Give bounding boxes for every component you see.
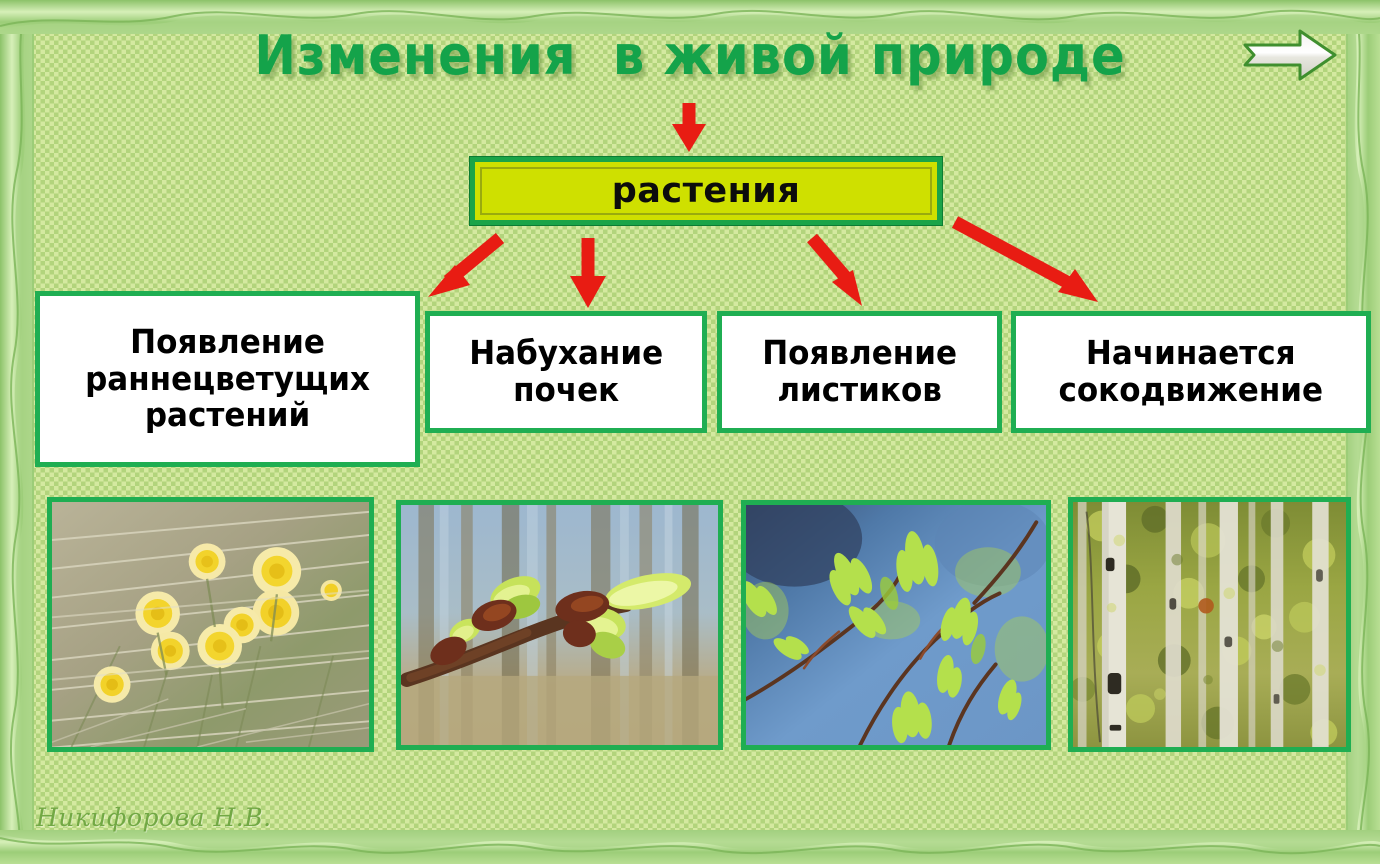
fact-box-early-flowering-plants[interactable]: Появление раннецветущих растений [35, 291, 420, 467]
photo-swelling-buds [396, 500, 723, 750]
arrow-plants-to-fact-0 [428, 238, 500, 297]
arrow-plants-to-fact-2 [812, 238, 862, 306]
fact-label: Начинается сокодвижение [1059, 335, 1324, 409]
fact-box-bud-swelling[interactable]: Набухание почек [425, 311, 707, 433]
arrow-plants-to-fact-3 [955, 222, 1098, 302]
author-signature: Никифорова Н.В. [36, 803, 272, 832]
fact-label: Появление листиков [762, 335, 957, 409]
photo-birch-grove [1068, 497, 1351, 752]
fact-label: Набухание почек [469, 335, 663, 409]
arrow-title-to-plants [672, 103, 706, 152]
fact-label: Появление раннецветущих растений [85, 324, 370, 435]
arrow-plants-to-fact-1 [570, 238, 606, 308]
photo-young-leaves [741, 500, 1051, 750]
fact-box-leaf-appearance[interactable]: Появление листиков [717, 311, 1002, 433]
photo-coltsfoot-flowers [47, 497, 374, 752]
fact-box-sap-flow[interactable]: Начинается сокодвижение [1011, 311, 1371, 433]
slide-canvas: Изменения в живой природе растения [0, 0, 1380, 864]
